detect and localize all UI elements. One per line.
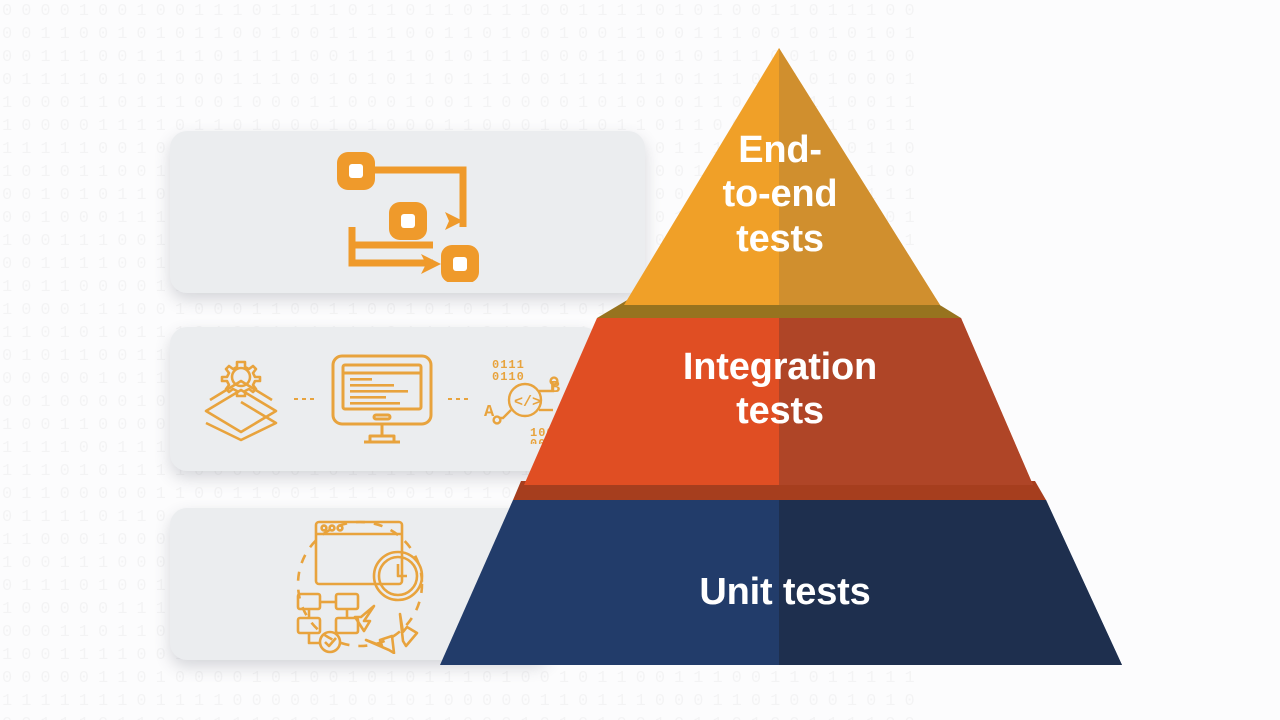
monitor-code-icon	[330, 353, 434, 445]
card-integration: </> 0111 0110 1001 0011 B A	[170, 327, 600, 471]
e2e-shadow	[597, 299, 961, 318]
tier-label-line: End-	[652, 128, 908, 172]
workflow-nodes-icon	[323, 142, 493, 282]
tier-label-line: to-end	[652, 172, 908, 216]
card-end-to-end-icons	[170, 131, 645, 293]
tier-label-end-to-end: End- to-end tests	[652, 128, 908, 261]
layers-gear-icon	[202, 356, 280, 442]
tier-label-integration: Integration tests	[600, 345, 960, 434]
tier-label-line: tests	[652, 217, 908, 261]
connector-dashed-right	[448, 394, 470, 404]
tier-label-line: tests	[600, 389, 960, 433]
svg-text:0110: 0110	[492, 370, 525, 384]
card-unit	[170, 508, 550, 660]
svg-text:A: A	[484, 403, 495, 422]
connector-dashed-left	[294, 394, 316, 404]
svg-text:</>: </>	[514, 394, 541, 411]
diagram-canvas: 0000100100111011110110110111001111010100…	[0, 0, 1280, 720]
pyramid-tier-end-to-end	[624, 48, 940, 305]
binary-code-icon: </> 0111 0110 1001 0011 B A	[484, 354, 568, 444]
integration-shadow	[513, 481, 1046, 500]
svg-text:0011: 0011	[530, 437, 563, 444]
unit-test-cycle-icon	[288, 514, 432, 654]
card-unit-icons	[170, 508, 550, 660]
tier-label-unit: Unit tests	[600, 570, 970, 614]
card-integration-icons: </> 0111 0110 1001 0011 B A	[170, 327, 600, 471]
card-end-to-end	[170, 131, 645, 293]
tier-label-line: Unit tests	[600, 570, 970, 614]
tier-label-line: Integration	[600, 345, 960, 389]
pyramid-tier-integration	[524, 318, 1033, 485]
svg-text:B: B	[550, 379, 560, 398]
